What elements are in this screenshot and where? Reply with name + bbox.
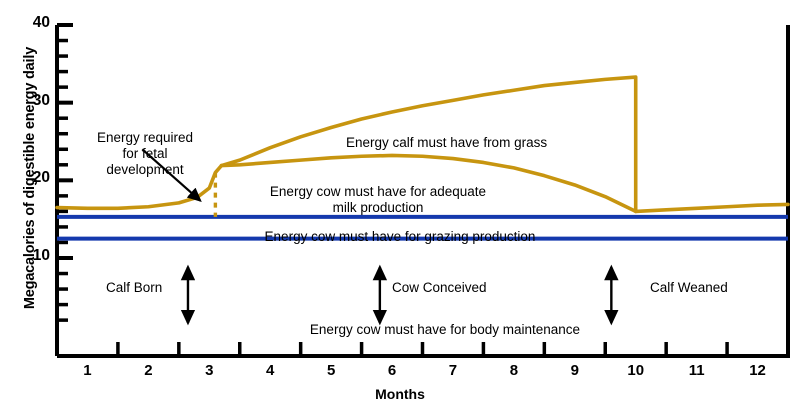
x-tick-label-1: 1 [67,362,107,379]
annotation-calf-weaned: Calf Weaned [650,280,728,296]
chart-root: Megacalories of digestible energy daily … [0,0,800,409]
y-tick-label-10: 10 [18,247,50,265]
annotation-cow-conceived: Cow Conceived [392,280,487,296]
x-tick-label-12: 12 [738,362,778,379]
x-tick-label-8: 8 [494,362,534,379]
annotation-milk-production: Energy cow must have for adequate milk p… [253,184,503,216]
annotation-calf-grass: Energy calf must have from grass [346,135,547,151]
annotation-grazing-production: Energy cow must have for grazing product… [150,229,650,245]
y-axis [57,25,73,356]
x-tick-label-2: 2 [128,362,168,379]
x-axis-title: Months [0,386,800,402]
x-tick-label-9: 9 [555,362,595,379]
x-tick-label-7: 7 [433,362,473,379]
annotation-milk-line-1: Energy cow must have for adequate [253,184,503,200]
annotation-body-maintenance: Energy cow must have for body maintenanc… [230,322,660,338]
annotation-fetal-development: Energy required for fetal development [85,130,205,178]
x-tick-label-6: 6 [372,362,412,379]
x-tick-label-10: 10 [616,362,656,379]
x-tick-label-11: 11 [677,362,717,379]
annotation-fetal-line-1: Energy required [85,130,205,146]
y-axis-major-ticks [57,25,73,258]
x-axis-ticks [118,342,727,356]
x-axis [57,342,790,356]
y-tick-label-40: 40 [18,14,50,32]
annotation-fetal-line-3: development [85,162,205,178]
annotation-milk-line-2: milk production [253,200,503,216]
x-tick-label-4: 4 [250,362,290,379]
y-tick-label-20: 20 [18,169,50,187]
annotation-calf-born: Calf Born [106,280,162,296]
x-tick-label-3: 3 [189,362,229,379]
y-tick-label-30: 30 [18,92,50,110]
annotation-fetal-line-2: for fetal [85,146,205,162]
x-tick-label-5: 5 [311,362,351,379]
